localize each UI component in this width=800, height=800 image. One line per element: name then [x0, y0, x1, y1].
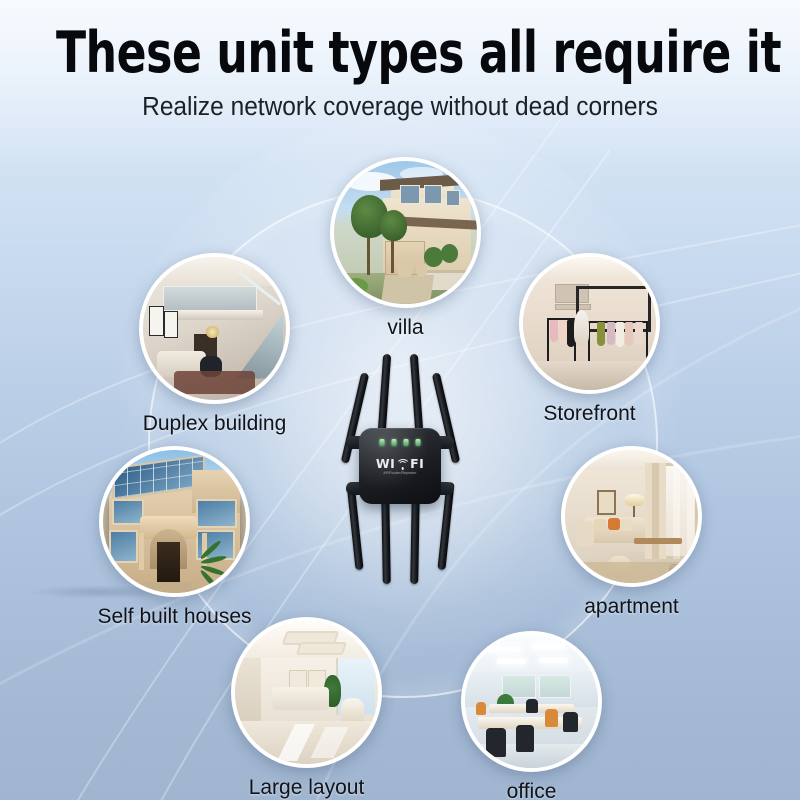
led-power-icon: [380, 439, 385, 446]
router-body: WI FI AP/Router/Repeater: [359, 428, 441, 504]
page-title: These unit types all require it: [56, 0, 744, 84]
photo-villa: [330, 157, 481, 308]
photo-office: [461, 631, 602, 772]
caption-villa: villa: [387, 316, 423, 340]
scene-office-open-plan: [465, 635, 598, 768]
scene-storefront-boutique: [523, 257, 656, 390]
page-subtitle: Realize network coverage without dead co…: [16, 84, 784, 122]
product-poster: These unit types all require it Realize …: [0, 0, 800, 800]
node-storefront[interactable]: Storefront: [519, 253, 660, 394]
node-large-layout[interactable]: Large layout: [231, 617, 382, 768]
photo-duplex: [139, 253, 290, 404]
wifi-router-device: WI FI AP/Router/Repeater: [338, 342, 462, 588]
scene-large-layout-room: [235, 621, 378, 764]
router-tagline: AP/Router/Repeater: [359, 471, 441, 475]
scene-duplex-interior: [143, 257, 286, 400]
router-brand-logo: WI FI AP/Router/Repeater: [359, 458, 441, 475]
caption-self-built-houses: Self built houses: [97, 605, 251, 629]
node-self-built-houses[interactable]: Self built houses: [99, 446, 250, 597]
photo-storefront: [519, 253, 660, 394]
scene-apartment-living-room: [565, 450, 698, 583]
led-wps-icon: [404, 439, 409, 446]
scene-self-built-house: [103, 450, 246, 593]
wifi-signal-icon: [396, 459, 409, 470]
photo-large-layout: [231, 617, 382, 768]
poster-header: These unit types all require it Realize …: [0, 0, 800, 122]
caption-storefront: Storefront: [543, 402, 635, 426]
caption-duplex-building: Duplex building: [143, 412, 287, 436]
photo-apartment: [561, 446, 702, 587]
palm-plant: [195, 542, 238, 591]
photo-self-built: [99, 446, 250, 597]
led-lan-icon: [416, 439, 421, 446]
caption-large-layout: Large layout: [249, 776, 365, 800]
node-duplex-building[interactable]: Duplex building: [139, 253, 290, 404]
caption-apartment: apartment: [584, 595, 679, 619]
node-apartment[interactable]: apartment: [561, 446, 702, 587]
scene-villa-house: [334, 161, 477, 304]
caption-office: office: [507, 780, 557, 800]
led-indicator-row: [380, 439, 421, 446]
node-office[interactable]: office: [461, 631, 602, 772]
antenna-bottom-right-inner: [410, 492, 420, 584]
brand-suffix-text: FI: [410, 458, 424, 470]
led-wifi-icon: [392, 439, 397, 446]
node-villa[interactable]: villa: [330, 157, 481, 308]
brand-prefix-text: WI: [376, 458, 395, 470]
antenna-bottom-left-inner: [381, 492, 391, 584]
